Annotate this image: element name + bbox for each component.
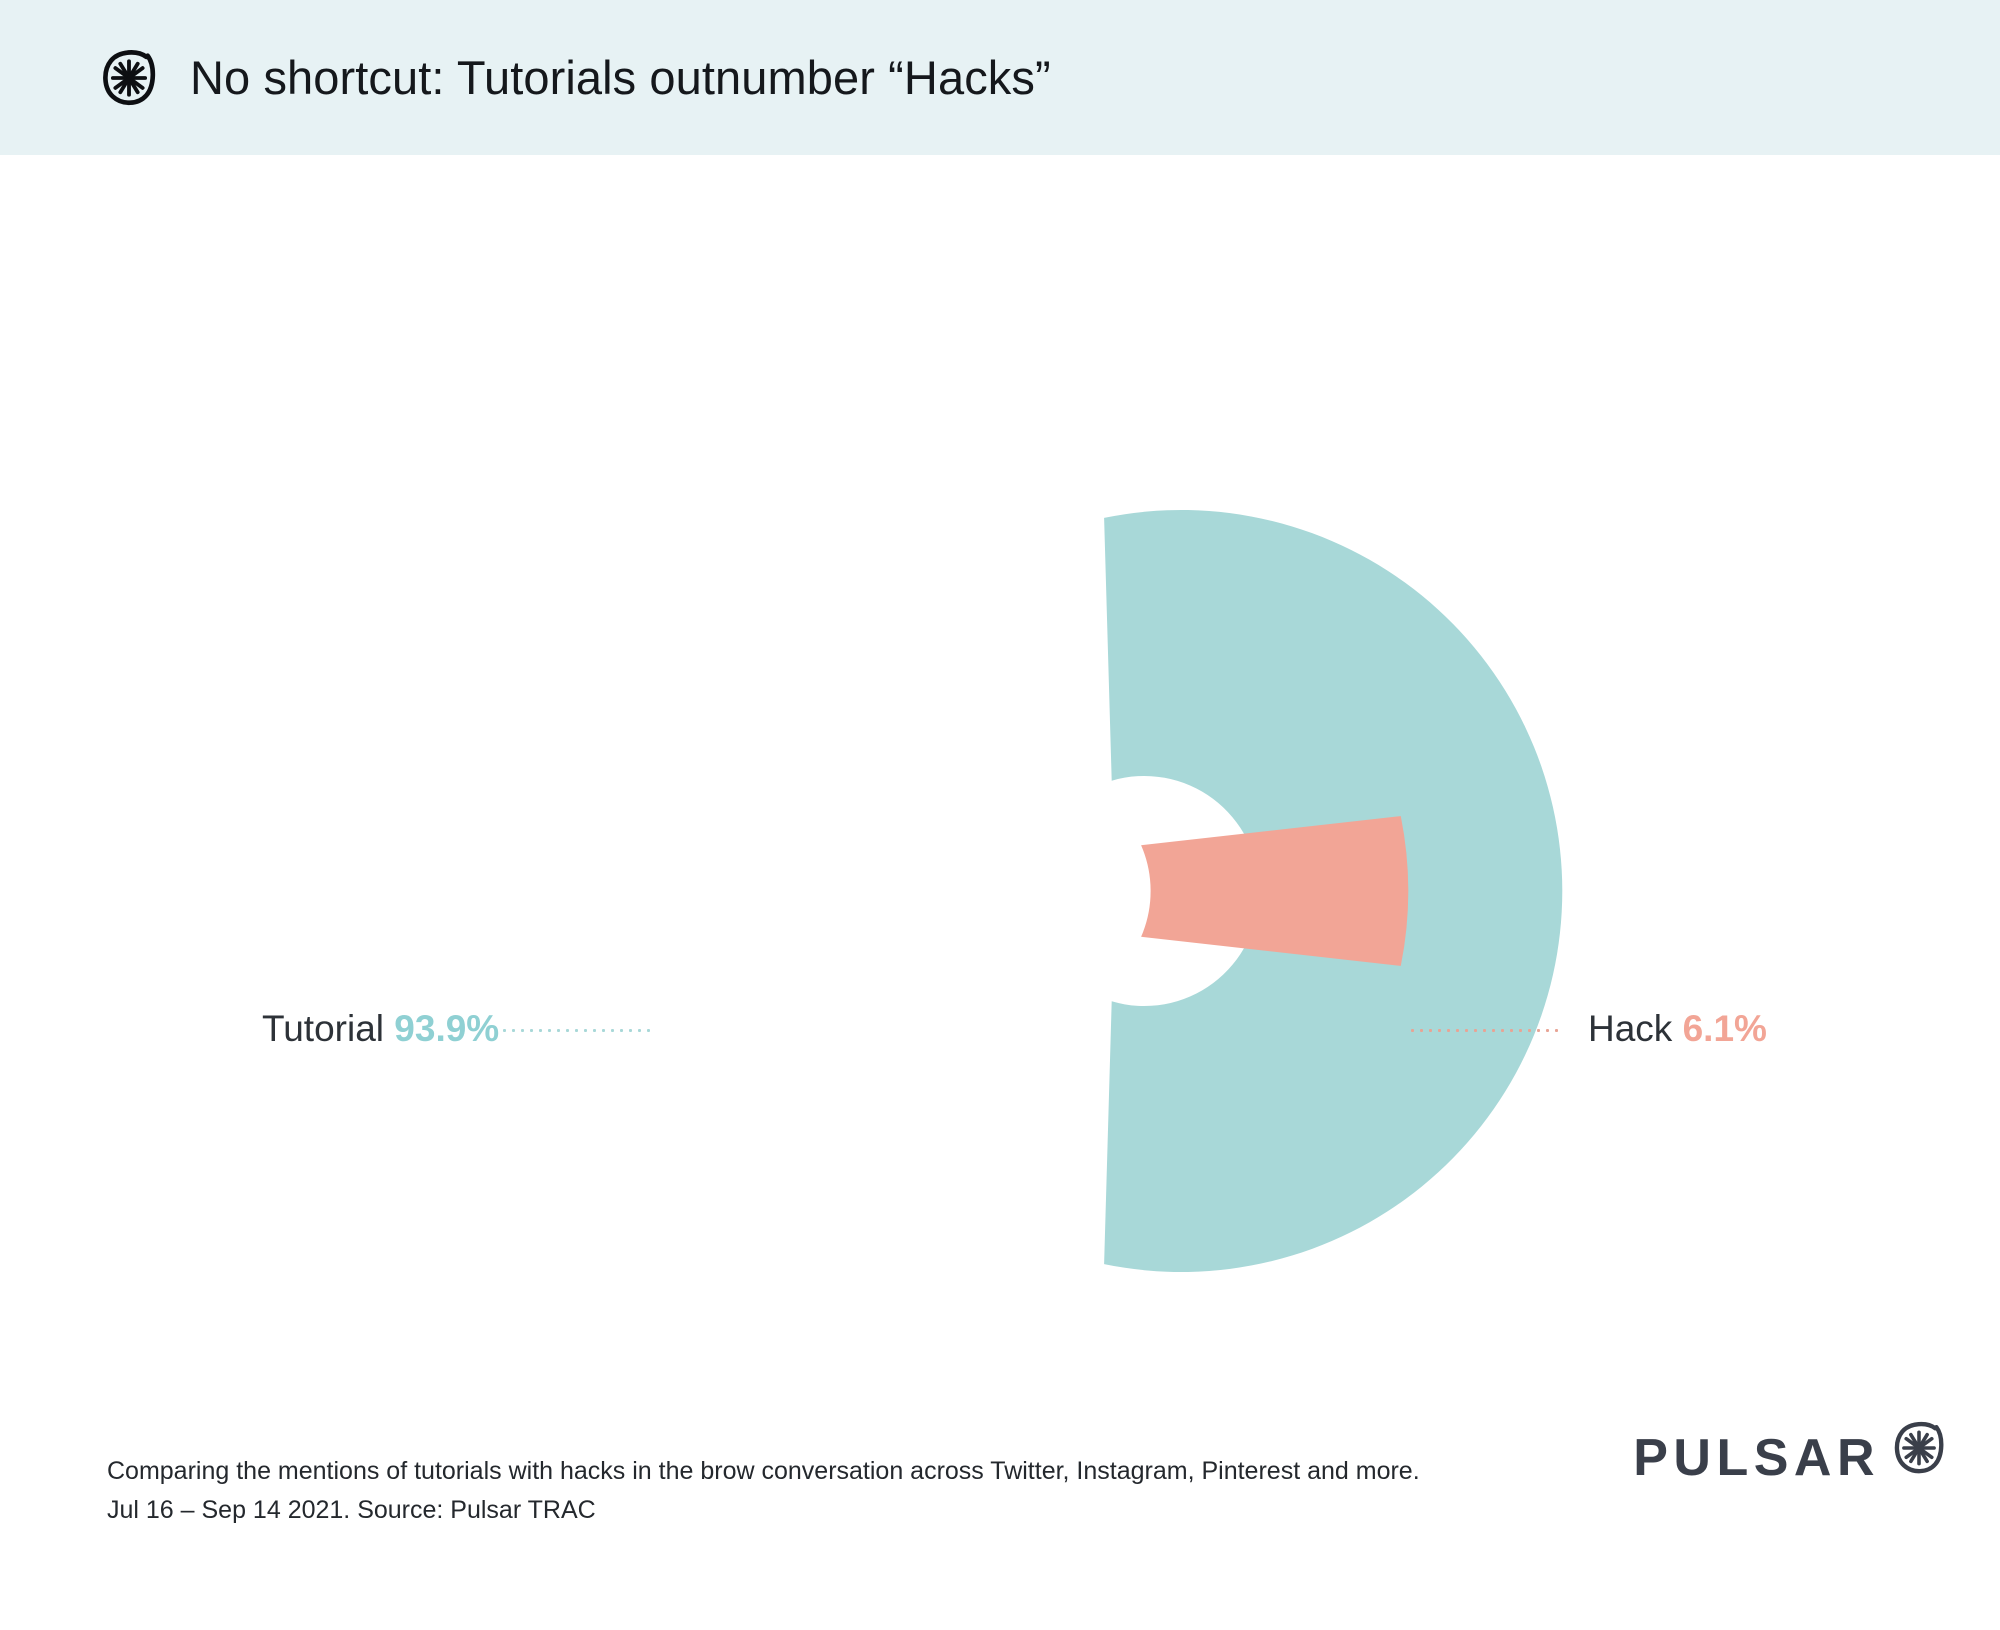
donut-slice-hack[interactable] bbox=[1141, 816, 1408, 966]
footer-caption-line2: Jul 16 – Sep 14 2021. Source: Pulsar TRA… bbox=[107, 1491, 1420, 1530]
header-bar: No shortcut: Tutorials outnumber “Hacks” bbox=[0, 0, 2000, 155]
footer-caption-line1: Comparing the mentions of tutorials with… bbox=[107, 1457, 1420, 1485]
footer-caption: Comparing the mentions of tutorials with… bbox=[107, 1452, 1420, 1530]
donut-chart-svg bbox=[0, 155, 2000, 1420]
slice-label-hack: Hack 6.1% bbox=[1588, 1010, 1767, 1047]
slice-label-tutorial-name: Tutorial bbox=[262, 1008, 384, 1049]
slice-label-tutorial: Tutorial 93.9% bbox=[262, 1010, 499, 1047]
leader-line-tutorial bbox=[500, 1028, 652, 1033]
slice-label-tutorial-percent: 93.9% bbox=[394, 1008, 499, 1049]
leader-line-hack bbox=[1408, 1028, 1560, 1033]
brand-wordmark: PULSAR bbox=[1633, 1432, 1880, 1484]
slice-label-hack-name: Hack bbox=[1588, 1008, 1672, 1049]
page-title: No shortcut: Tutorials outnumber “Hacks” bbox=[190, 54, 1051, 101]
pulsar-brand-logo: PULSAR bbox=[1633, 1432, 1948, 1484]
donut-chart: Tutorial 93.9% Hack 6.1% bbox=[0, 155, 2000, 1420]
footer: Comparing the mentions of tutorials with… bbox=[0, 1420, 2000, 1630]
pulsar-asterisk-icon bbox=[1890, 1419, 1948, 1477]
pulsar-asterisk-icon bbox=[98, 47, 160, 109]
slice-label-hack-percent: 6.1% bbox=[1683, 1008, 1767, 1049]
